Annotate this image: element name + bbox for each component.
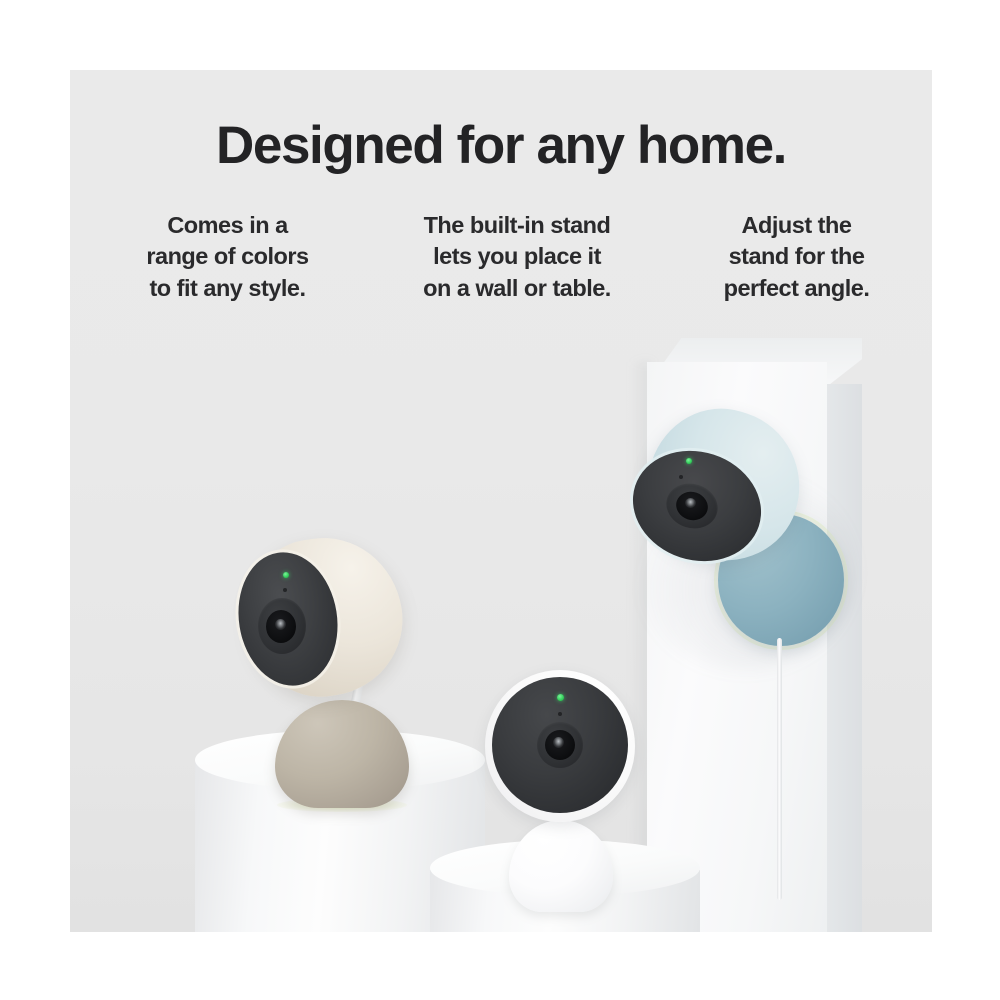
camera-linen-lens-glint [275,619,286,630]
camera-snow-lens-glint [553,737,564,748]
camera-fog [590,410,830,670]
content-panel: Designed for any home. Comes in a range … [70,70,932,932]
product-marketing-image: Designed for any home. Comes in a range … [0,0,1000,1000]
page-title: Designed for any home. [70,118,932,174]
status-led-icon [283,572,289,578]
camera-snow-dome-base [509,820,613,912]
status-led-icon [686,458,692,464]
status-led-icon [557,694,564,701]
feature-column-built-in-stand: The built-in stand lets you place it on … [385,210,650,304]
microphone-icon [558,712,562,716]
wall-side-face [827,384,862,932]
camera-fog-lens-glint [685,498,696,508]
feature-column-colors: Comes in a range of colors to fit any st… [110,210,345,304]
power-cable [777,638,782,900]
feature-column-adjust-stand: Adjust the stand for the perfect angle. [689,210,904,304]
microphone-icon [679,475,683,479]
microphone-icon [283,588,287,592]
camera-snow [465,670,655,910]
camera-linen-dome-base [275,700,409,808]
feature-columns: Comes in a range of colors to fit any st… [110,210,904,304]
product-photo-scene [70,70,932,932]
camera-linen [225,530,455,820]
